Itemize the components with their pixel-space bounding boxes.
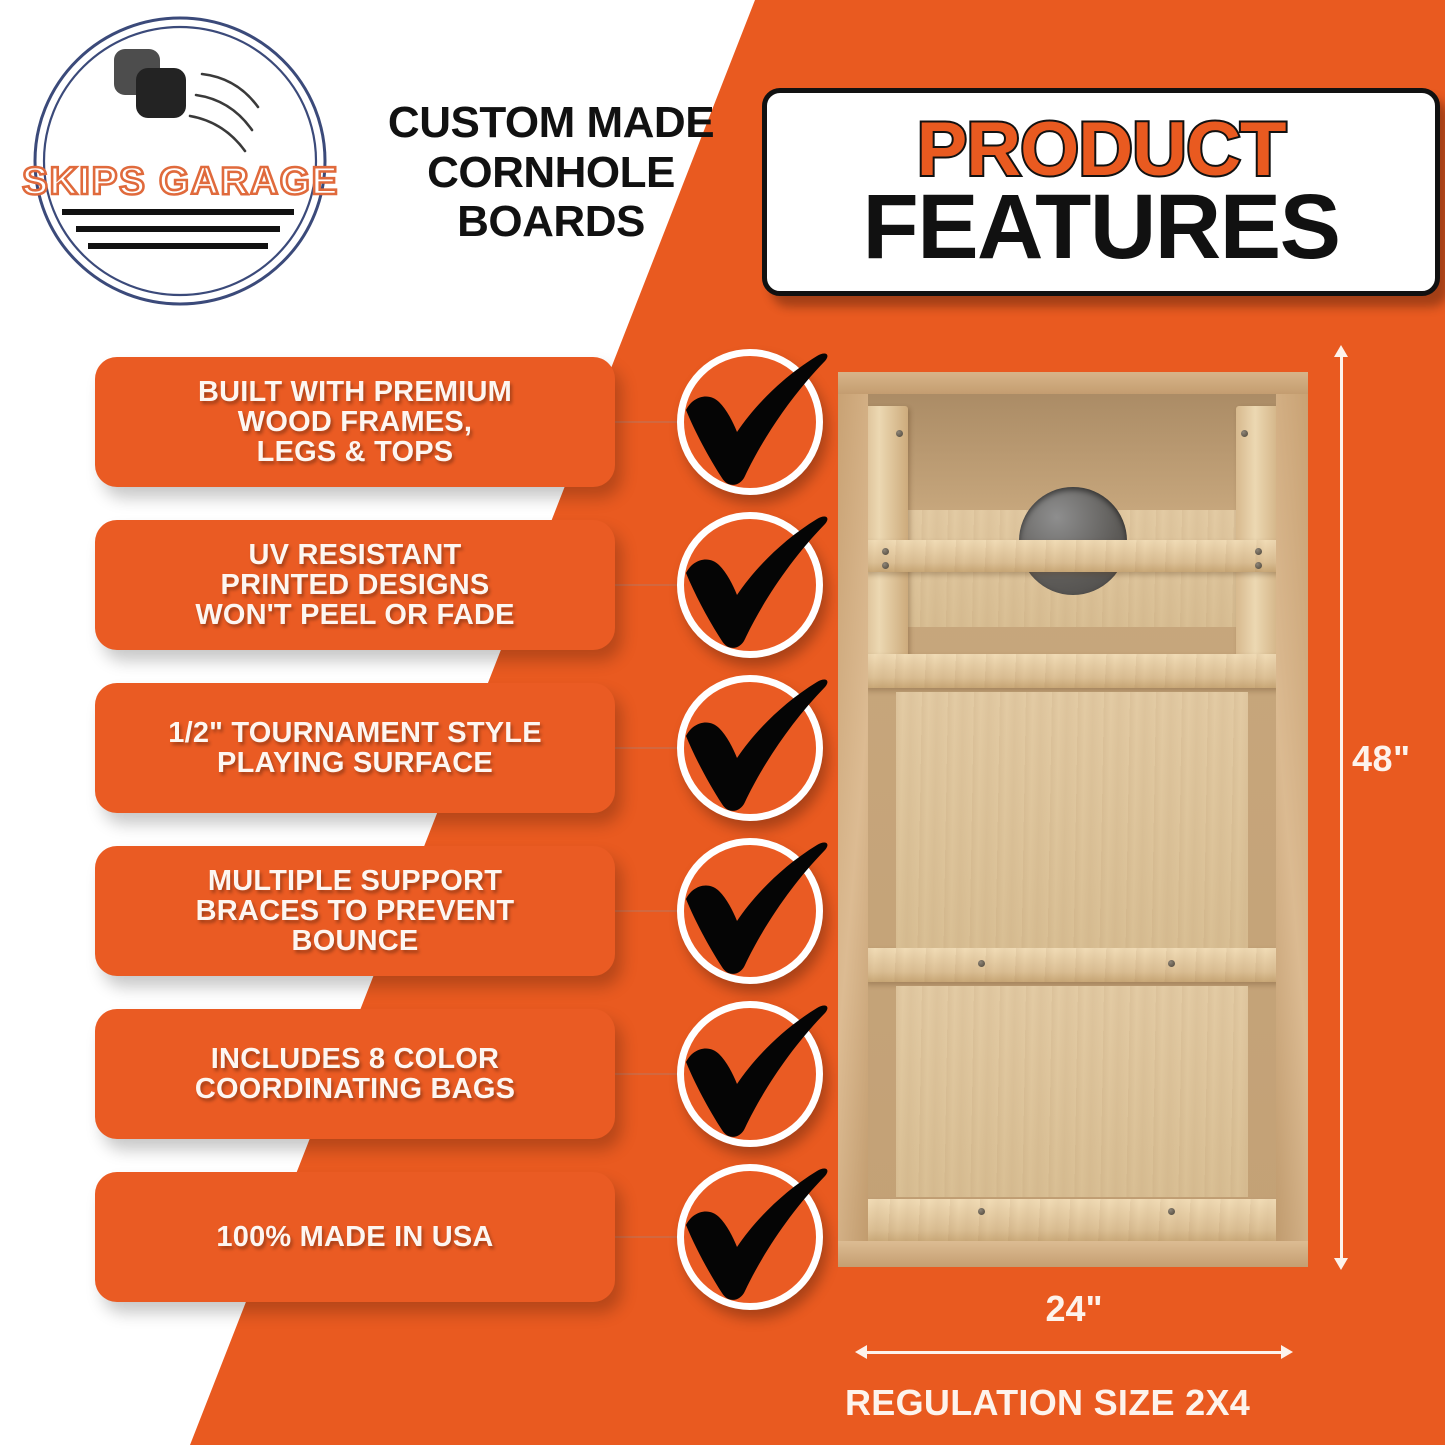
brand-logo: SKIPS GARAGE bbox=[18, 12, 343, 310]
feature-row: 1/2" TOURNAMENT STYLEPLAYING SURFACE bbox=[0, 683, 845, 813]
brace-screw-7 bbox=[978, 1208, 985, 1215]
feature-text-line: WON'T PEEL OR FADE bbox=[195, 600, 514, 630]
brace-screw-8 bbox=[1168, 1208, 1175, 1215]
regulation-size-note: REGULATION SIZE 2X4 bbox=[845, 1382, 1365, 1424]
board-frame-bottom bbox=[838, 1241, 1308, 1267]
feature-pill-text: 100% MADE IN USA bbox=[216, 1222, 493, 1252]
board-frame-right bbox=[1276, 372, 1308, 1267]
feature-text-line: 1/2" TOURNAMENT STYLE bbox=[168, 718, 542, 748]
feature-row: INCLUDES 8 COLORCOORDINATING BAGS bbox=[0, 1009, 845, 1139]
arrow-right-icon bbox=[1281, 1345, 1293, 1359]
product-features-banner: PRODUCT FEATURES bbox=[762, 88, 1440, 296]
brace-screw-1 bbox=[882, 548, 889, 555]
feature-text-line: INCLUDES 8 COLOR bbox=[195, 1044, 515, 1074]
feature-row: 100% MADE IN USA bbox=[0, 1172, 845, 1302]
headline-line-1: CUSTOM MADE bbox=[352, 98, 750, 148]
feature-check-badge bbox=[677, 1001, 823, 1147]
board-frame-top bbox=[838, 372, 1308, 394]
support-brace-top bbox=[866, 540, 1280, 572]
arrow-down-icon bbox=[1334, 1258, 1348, 1270]
feature-text-line: WOOD FRAMES, bbox=[198, 407, 512, 437]
feature-check-badge bbox=[677, 838, 823, 984]
logo-wordmark: SKIPS GARAGE bbox=[18, 160, 343, 204]
feature-text-line: MULTIPLE SUPPORT bbox=[196, 866, 515, 896]
feature-check-badge bbox=[677, 675, 823, 821]
headline-line-3: BOARDS bbox=[352, 197, 750, 247]
feature-row: MULTIPLE SUPPORTBRACES TO PREVENTBOUNCE bbox=[0, 846, 845, 976]
banner-word-features: FEATURES bbox=[863, 183, 1340, 271]
support-brace-bottom bbox=[860, 1199, 1286, 1243]
feature-pill[interactable]: 1/2" TOURNAMENT STYLEPLAYING SURFACE bbox=[95, 683, 615, 813]
support-brace-upper-mid bbox=[866, 654, 1280, 688]
feature-pill[interactable]: UV RESISTANTPRINTED DESIGNSWON'T PEEL OR… bbox=[95, 520, 615, 650]
feature-pill[interactable]: MULTIPLE SUPPORTBRACES TO PREVENTBOUNCE bbox=[95, 846, 615, 976]
width-dimension-arrow bbox=[855, 1345, 1293, 1359]
feature-text-line: BOUNCE bbox=[196, 926, 515, 956]
feature-check-badge bbox=[677, 349, 823, 495]
feature-pill-text: 1/2" TOURNAMENT STYLEPLAYING SURFACE bbox=[168, 718, 542, 778]
leg-bolt-right bbox=[1241, 430, 1248, 437]
brace-screw-2 bbox=[882, 562, 889, 569]
board-lower-panel bbox=[896, 986, 1248, 1197]
feature-pill-text: BUILT WITH PREMIUMWOOD FRAMES,LEGS & TOP… bbox=[198, 377, 512, 467]
brace-screw-6 bbox=[1168, 960, 1175, 967]
feature-text-line: PLAYING SURFACE bbox=[168, 748, 542, 778]
product-photo bbox=[838, 372, 1308, 1267]
brace-screw-5 bbox=[978, 960, 985, 967]
support-brace-lower-mid bbox=[866, 948, 1280, 982]
feature-row: BUILT WITH PREMIUMWOOD FRAMES,LEGS & TOP… bbox=[0, 357, 845, 487]
board-mid-panel bbox=[896, 692, 1248, 948]
feature-check-badge bbox=[677, 512, 823, 658]
brace-screw-3 bbox=[1255, 548, 1262, 555]
feature-row: UV RESISTANTPRINTED DESIGNSWON'T PEEL OR… bbox=[0, 520, 845, 650]
feature-text-line: PRINTED DESIGNS bbox=[195, 570, 514, 600]
feature-check-badge bbox=[677, 1164, 823, 1310]
feature-pill-text: MULTIPLE SUPPORTBRACES TO PREVENTBOUNCE bbox=[196, 866, 515, 956]
feature-text-line: COORDINATING BAGS bbox=[195, 1074, 515, 1104]
feature-text-line: LEGS & TOPS bbox=[198, 437, 512, 467]
feature-text-line: BRACES TO PREVENT bbox=[196, 896, 515, 926]
feature-pill-text: UV RESISTANTPRINTED DESIGNSWON'T PEEL OR… bbox=[195, 540, 514, 630]
brace-screw-4 bbox=[1255, 562, 1262, 569]
dimension-line-vertical bbox=[1340, 353, 1343, 1262]
page-title: CUSTOM MADE CORNHOLE BOARDS bbox=[352, 98, 750, 247]
height-dimension-label: 48" bbox=[1352, 738, 1411, 780]
feature-text-line: 100% MADE IN USA bbox=[216, 1222, 493, 1252]
board-frame-left bbox=[838, 372, 868, 1267]
width-dimension-label: 24" bbox=[855, 1288, 1293, 1330]
feature-text-line: UV RESISTANT bbox=[195, 540, 514, 570]
feature-pill[interactable]: 100% MADE IN USA bbox=[95, 1172, 615, 1302]
height-dimension-arrow bbox=[1334, 345, 1348, 1270]
leg-bolt-left bbox=[896, 430, 903, 437]
feature-pill[interactable]: BUILT WITH PREMIUMWOOD FRAMES,LEGS & TOP… bbox=[95, 357, 615, 487]
feature-text-line: BUILT WITH PREMIUM bbox=[198, 377, 512, 407]
feature-pill-text: INCLUDES 8 COLORCOORDINATING BAGS bbox=[195, 1044, 515, 1104]
infographic-canvas: SKIPS GARAGE CUSTOM MADE CORNHOLE BOARDS… bbox=[0, 0, 1445, 1445]
feature-pill[interactable]: INCLUDES 8 COLORCOORDINATING BAGS bbox=[95, 1009, 615, 1139]
dimension-line-horizontal bbox=[863, 1351, 1285, 1354]
headline-line-2: CORNHOLE bbox=[352, 148, 750, 198]
